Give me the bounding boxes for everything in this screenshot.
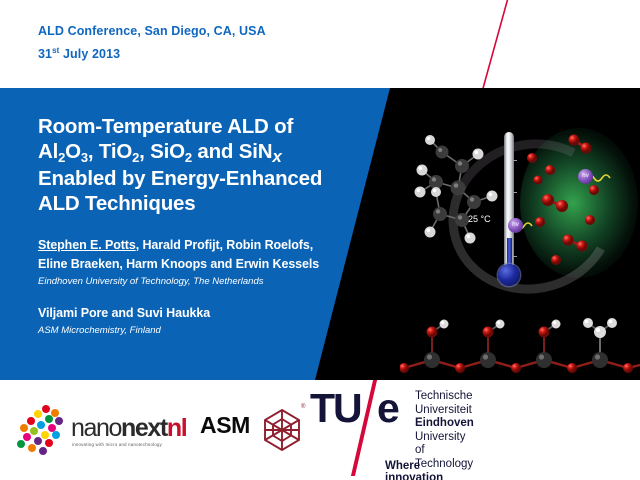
t2s3: 2 [132, 150, 139, 165]
tue-name-line-1: Technische Universiteit [415, 390, 474, 417]
tue-name-line-2: Eindhoven [415, 417, 474, 431]
affiliation-2: ASM Microchemistry, Finland [38, 324, 398, 338]
author-line-3: Viljami Pore and Suvi Haukka [38, 304, 398, 323]
author-block: Stephen E. Potts, Harald Profijt, Robin … [38, 236, 398, 338]
conference-line: ALD Conference, San Diego, CA, USA [38, 24, 266, 38]
coauthors-1: , Harald Profijt, Robin Roelofs, [136, 238, 313, 252]
tue-full-name: Technische Universiteit Eindhoven Univer… [415, 390, 474, 471]
asm-hexagon-icon [0, 406, 6, 454]
title-line-3: Enabled by Energy-Enhanced [38, 166, 390, 191]
author-line-1: Stephen E. Potts, Harald Profijt, Robin … [38, 236, 398, 255]
author-line-2: Eline Braeken, Harm Knoops and Erwin Kes… [38, 255, 398, 274]
temperature-label: 25 °C [468, 214, 491, 224]
tue-tagline: Where innovation starts [385, 460, 443, 480]
slide-body-band: Room-Temperature ALD of Al2O3, TiO2, SiO… [0, 88, 640, 380]
substrate-surface-icon [400, 310, 640, 380]
author-group-2: Viljami Pore and Suvi Haukka ASM Microch… [38, 304, 398, 338]
affiliation-1: Eindhoven University of Technology, The … [38, 275, 398, 289]
photon-marker-2: hv [508, 218, 523, 233]
nanonextnl-wordmark: nanonextnl [71, 416, 186, 441]
nanonextnl-logo: nanonextnl innovating with micro and nan… [16, 402, 186, 456]
slide-header: ALD Conference, San Diego, CA, USA 31st … [0, 0, 640, 88]
presenting-author: Stephen E. Potts [38, 238, 136, 252]
t2sx: x [272, 147, 281, 166]
nanonextnl-tagline: innovating with micro and nanotechnology [72, 442, 162, 447]
tue-e-text: e [377, 388, 400, 429]
ald-process-illustration: 25 °C [400, 88, 640, 380]
date-line: 31st July 2013 [38, 46, 120, 61]
nn-nl: nl [167, 414, 186, 442]
t2c: , TiO [88, 140, 132, 163]
t2s4: 2 [185, 150, 192, 165]
plasma-species-icon [512, 118, 640, 288]
t2d: , SiO [139, 140, 185, 163]
date-day: 31 [38, 47, 52, 61]
title-line-2: Al2O3, TiO2, SiO2 and SiNx [38, 139, 390, 166]
title-line-1: Room-Temperature ALD of [38, 114, 390, 139]
nn-nano: nano [71, 414, 121, 442]
asm-registered-symbol: ® [301, 404, 305, 410]
photon-marker-1: hv [578, 169, 593, 184]
t2s1: 2 [58, 150, 65, 165]
title-line-4: ALD Techniques [38, 191, 390, 216]
t2b: O [65, 140, 81, 163]
t2e: and SiN [192, 140, 272, 163]
presentation-slide: ALD Conference, San Diego, CA, USA 31st … [0, 0, 640, 480]
date-rest: July 2013 [59, 47, 120, 61]
asm-wordmark: ASM [200, 412, 250, 439]
red-diagonal-accent-top [470, 0, 516, 92]
slide-title: Room-Temperature ALD of Al2O3, TiO2, SiO… [38, 114, 390, 216]
tue-tu-text: TU [310, 388, 361, 429]
t2a: Al [38, 140, 58, 163]
nanonextnl-dots-icon [16, 404, 68, 458]
t2s2: 3 [81, 150, 88, 165]
asm-hexagon-mark [258, 406, 306, 454]
nn-next: next [121, 414, 167, 442]
